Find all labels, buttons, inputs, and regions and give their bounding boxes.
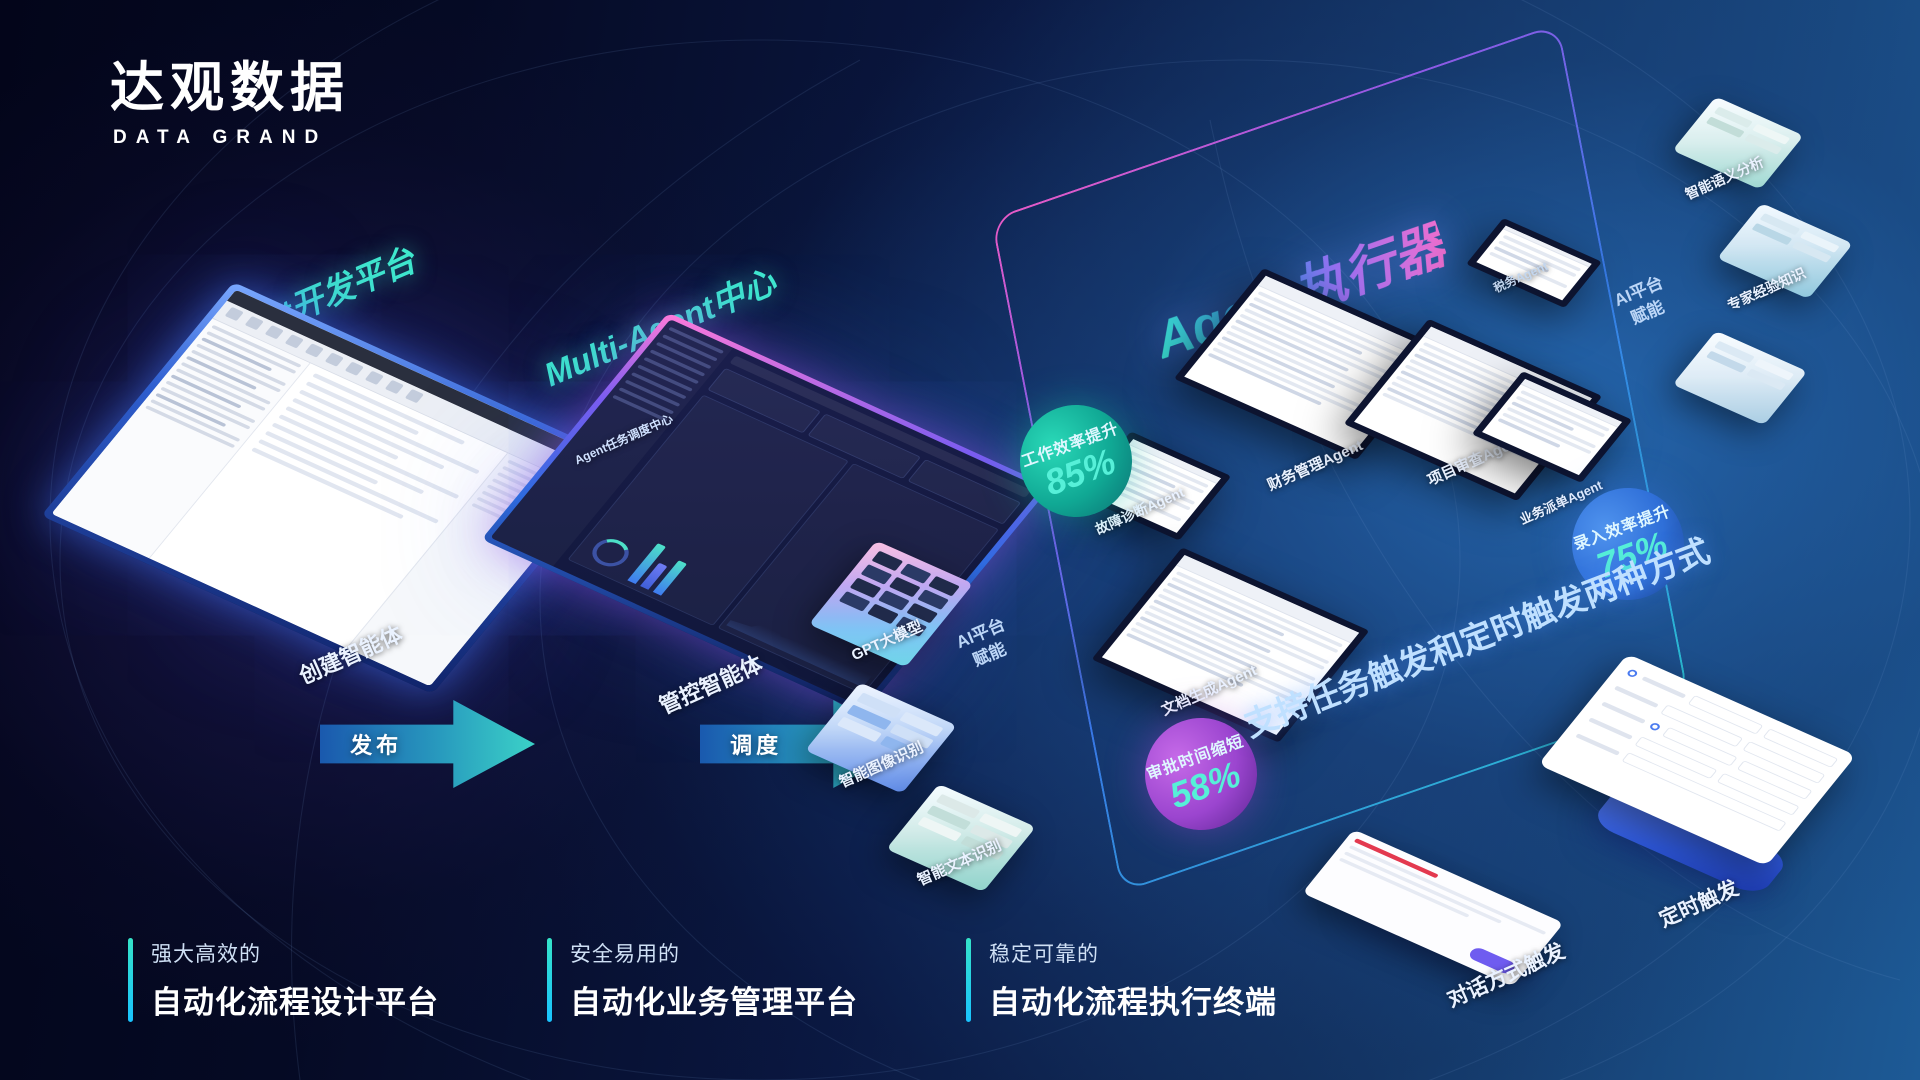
brand-name-cn: 达观数据 bbox=[110, 60, 350, 117]
caption-accent-bar-0 bbox=[128, 938, 133, 1022]
arrow-publish-label: 发布 bbox=[350, 728, 402, 760]
brand-logo: 达观数据 DATA GRAND bbox=[110, 60, 350, 149]
bottom-caption-1: 安全易用的 自动化业务管理平台 bbox=[547, 938, 858, 1022]
arrow-schedule-label: 调度 bbox=[730, 728, 782, 760]
device-dispatch-agent bbox=[1492, 382, 1612, 472]
caption-main-0: 自动化流程设计平台 bbox=[151, 977, 439, 1022]
bottom-caption-2: 稳定可靠的 自动化流程执行终端 bbox=[966, 938, 1277, 1022]
card-knowledge-extra bbox=[1673, 331, 1808, 425]
arrow-publish: 发布 bbox=[320, 700, 535, 788]
trigger-mode-schedule-label: 定时触发 bbox=[1654, 872, 1743, 934]
label-ai-platform-right: AI平台 赋能 bbox=[1611, 272, 1676, 334]
caption-main-1: 自动化业务管理平台 bbox=[570, 977, 858, 1022]
caption-accent-bar-2 bbox=[966, 938, 971, 1022]
caption-sub-0: 强大高效的 bbox=[151, 938, 439, 968]
bottom-caption-0: 强大高效的 自动化流程设计平台 bbox=[128, 938, 439, 1022]
caption-sub-1: 安全易用的 bbox=[570, 938, 858, 968]
caption-sub-2: 稳定可靠的 bbox=[989, 938, 1277, 968]
card-text-recognition bbox=[886, 784, 1036, 892]
poster-canvas: 达观数据 DATA GRAND Agent开发平台 Multi-Agent中心 … bbox=[0, 0, 1920, 1080]
bottom-captions: 强大高效的 自动化流程设计平台 安全易用的 自动化业务管理平台 稳定可靠的 自动… bbox=[128, 938, 1277, 1022]
brand-name-en: DATA GRAND bbox=[110, 127, 350, 149]
caption-accent-bar-1 bbox=[547, 938, 552, 1022]
caption-main-2: 自动化流程执行终端 bbox=[989, 977, 1277, 1022]
label-ai-platform-left: AI平台 赋能 bbox=[953, 614, 1018, 676]
